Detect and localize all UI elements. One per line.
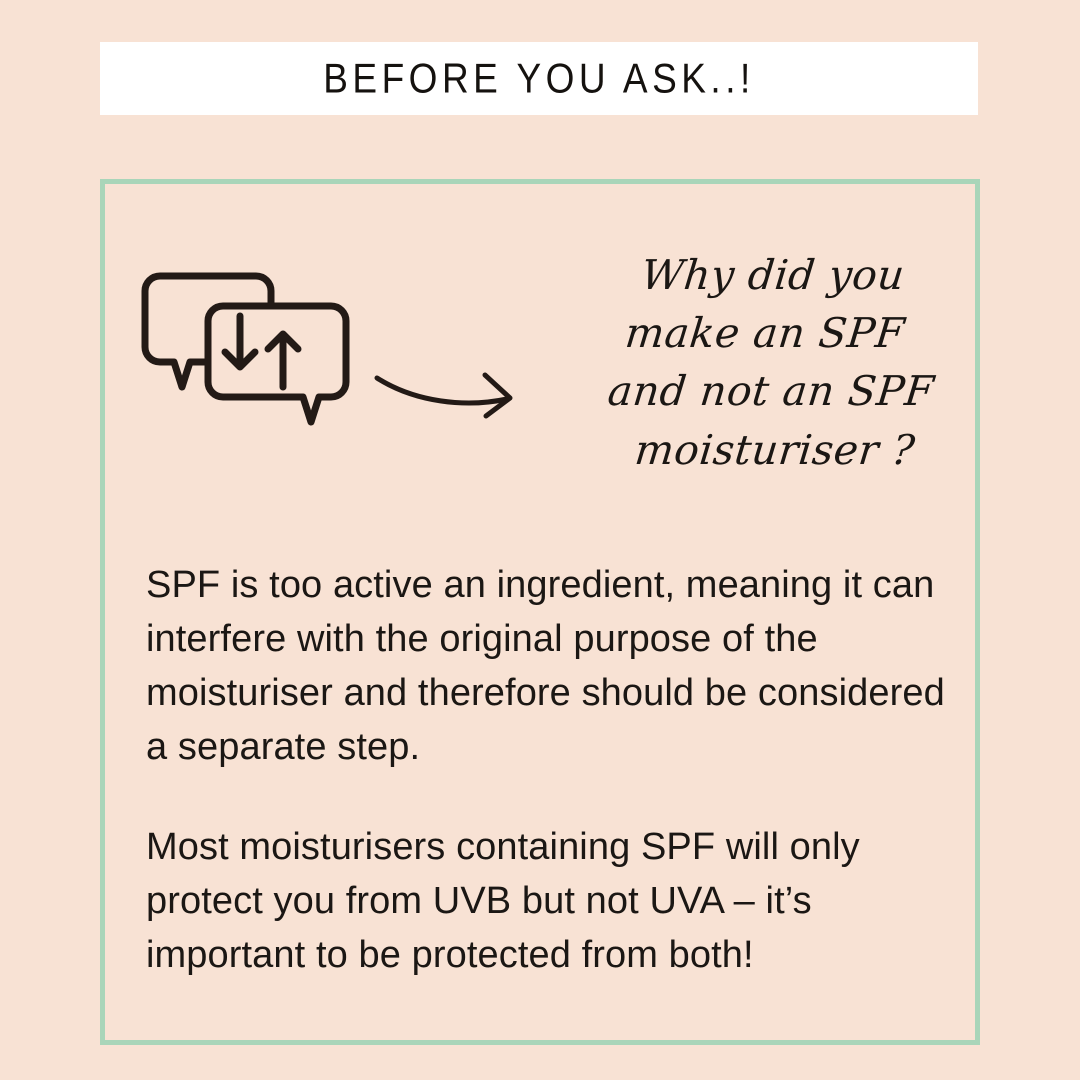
answer-paragraph-1: SPF is too active an ingredient, meaning… xyxy=(146,559,962,775)
header-banner: BEFORE YOU ASK..! xyxy=(100,42,978,115)
handwritten-question: Why did you make an SPF and not an SPF m… xyxy=(560,246,980,479)
handwritten-question-line-4: moisturiser ? xyxy=(557,421,983,479)
handwritten-question-line-2: make an SPF xyxy=(557,304,983,362)
handwritten-question-line-3: and not an SPF xyxy=(557,362,983,420)
question-row: Why did you make an SPF and not an SPF m… xyxy=(105,184,975,534)
curved-right-arrow-icon xyxy=(373,358,528,423)
answer-paragraph-2: Most moisturisers containing SPF will on… xyxy=(146,821,962,983)
handwritten-question-line-1: Why did you xyxy=(557,246,983,304)
content-card: Why did you make an SPF and not an SPF m… xyxy=(100,179,980,1045)
page-title: BEFORE YOU ASK..! xyxy=(323,58,755,99)
answer-body: SPF is too active an ingredient, meaning… xyxy=(146,559,962,983)
speech-bubbles-exchange-icon xyxy=(133,269,358,434)
